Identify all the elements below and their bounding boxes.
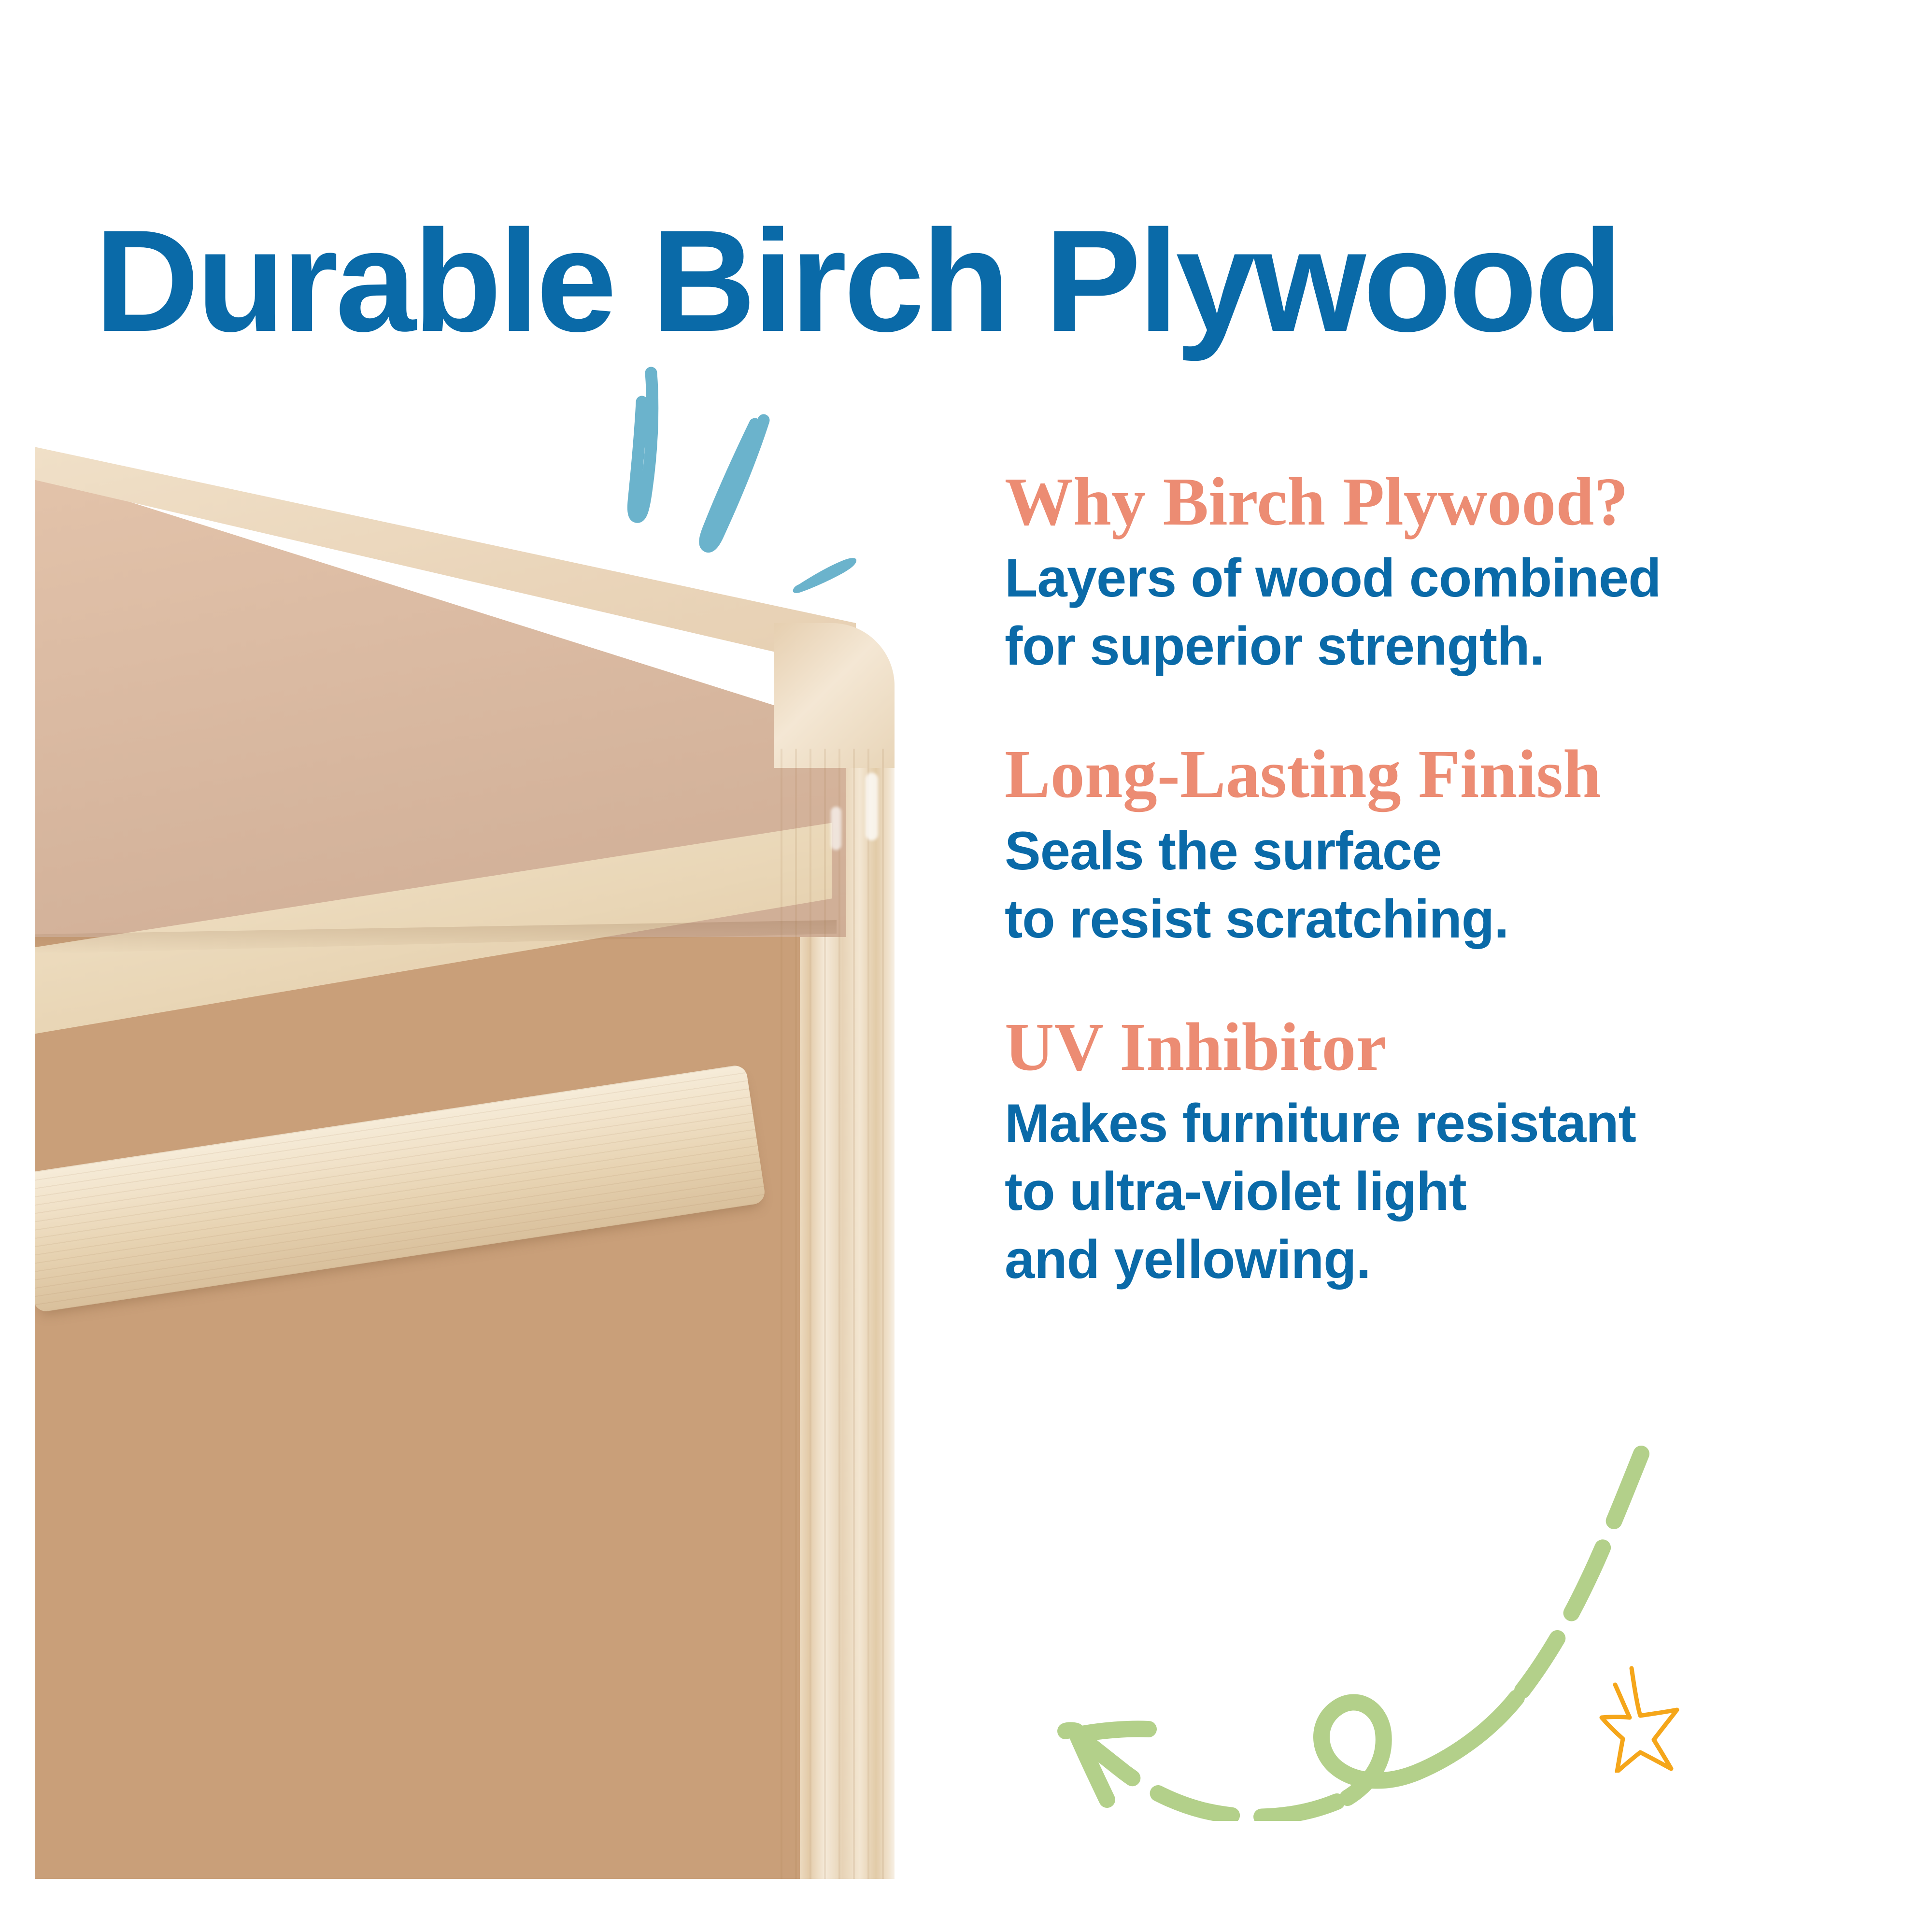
orange-star-icon [1594, 1662, 1690, 1773]
plywood-rounded-corner [774, 623, 895, 768]
edge-gloss-highlight-2 [831, 807, 841, 850]
feature-block-2: Long-Lasting Finish Seals the surface to… [1005, 736, 1855, 952]
features-list: Why Birch Plywood? Layers of wood combin… [1005, 464, 1855, 1293]
feature-body-line: to ultra-violet light [1005, 1157, 1855, 1225]
feature-body-line: Seals the surface [1005, 817, 1855, 885]
page-title: Durable Birch Plywood [95, 208, 1882, 353]
feature-heading-long-lasting-finish: Long-Lasting Finish [1005, 736, 1855, 811]
feature-block-1: Why Birch Plywood? Layers of wood combin… [1005, 464, 1855, 680]
feature-body-line: and yellowing. [1005, 1225, 1855, 1293]
plywood-lamination-layers [781, 749, 895, 1879]
feature-body-line: Layers of wood combined [1005, 544, 1855, 612]
feature-body-line: to resist scratching. [1005, 885, 1855, 953]
edge-gloss-highlight [866, 773, 878, 840]
feature-body-line: Makes furniture resistant [1005, 1089, 1855, 1157]
plywood-back-panel [35, 865, 800, 1879]
feature-body-1: Layers of wood combined for superior str… [1005, 544, 1855, 680]
feature-block-3: UV Inhibitor Makes furniture resistant t… [1005, 1009, 1855, 1294]
feature-body-line: for superior strength. [1005, 612, 1855, 680]
green-dashed-curved-arrow [1024, 1435, 1662, 1821]
product-photo [35, 440, 895, 1879]
feature-body-2: Seals the surface to resist scratching. [1005, 817, 1855, 953]
feature-heading-why-birch-plywood: Why Birch Plywood? [1005, 464, 1855, 539]
feature-heading-uv-inhibitor: UV Inhibitor [1005, 1009, 1855, 1084]
feature-body-3: Makes furniture resistant to ultra-viole… [1005, 1089, 1855, 1293]
